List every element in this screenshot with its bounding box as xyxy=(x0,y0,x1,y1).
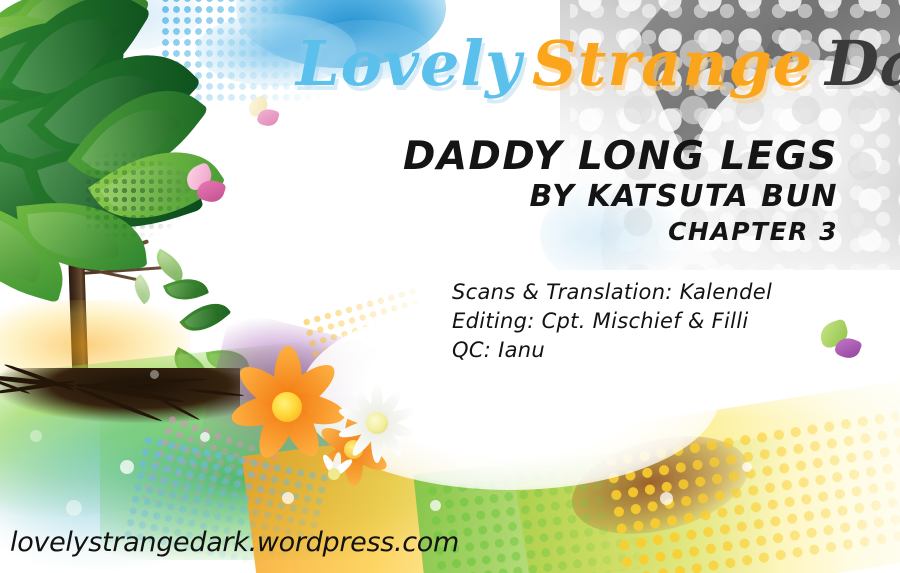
floating-leaf xyxy=(163,271,209,308)
tree-root xyxy=(0,375,31,395)
tree-root xyxy=(0,374,74,389)
highlight-bubble xyxy=(30,430,42,442)
tree-leaf xyxy=(0,67,105,190)
floating-leaf xyxy=(179,293,231,342)
chapter-number: CHAPTER 3 xyxy=(318,218,838,246)
color-splash-yellow-ribbon xyxy=(509,375,900,573)
credit-line-scans-translation: Scans & Translation: Kalendel xyxy=(452,278,772,307)
tree-leaf xyxy=(21,113,204,258)
tree-root xyxy=(76,377,206,388)
blue-cloud-shape xyxy=(60,0,200,50)
manga-author: BY KATSUTA BUN xyxy=(318,180,838,214)
tree-branch xyxy=(77,239,148,265)
manga-title: DADDY LONG LEGS xyxy=(318,136,838,177)
highlight-bubble xyxy=(742,462,752,472)
color-splash-brown xyxy=(562,420,758,551)
daisy-center xyxy=(328,468,340,480)
site-url: lovelystrangedark.wordpress.com xyxy=(10,526,459,560)
color-splash-green-ribbon xyxy=(413,430,846,573)
tree-branch xyxy=(77,198,154,255)
highlight-bubble xyxy=(200,432,210,442)
white-daisy-bud xyxy=(312,452,356,496)
tree-leaf xyxy=(0,37,106,148)
tree-leaf xyxy=(1,0,114,76)
highlight-bubble xyxy=(120,460,134,474)
tree-halftone-texture xyxy=(84,150,194,240)
highlight-bubble xyxy=(660,492,673,505)
tree-leaf xyxy=(0,0,71,104)
title-block: DADDY LONG LEGS BY KATSUTA BUN CHAPTER 3 xyxy=(318,136,838,246)
logo-word-strange: Strange xyxy=(532,22,813,106)
tree-branch xyxy=(8,270,48,278)
floating-leaf xyxy=(150,249,189,283)
credit-line-qc: QC: Ianu xyxy=(452,336,772,365)
tree-leaf xyxy=(0,146,96,244)
credits-block: Scans & Translation: Kalendel Editing: C… xyxy=(452,278,772,365)
flower-center xyxy=(272,392,302,422)
logo-word-dark: Dark xyxy=(825,22,900,106)
green-halftone-dots xyxy=(424,456,666,573)
butterfly-green-purple xyxy=(818,322,862,362)
chapter-credits-page: LovelyStrangeDark DADDY LONG LEGS BY KAT… xyxy=(0,0,900,573)
yellow-halftone-dots xyxy=(601,407,900,573)
tree-leaf xyxy=(0,199,78,303)
floating-leaf xyxy=(128,274,157,304)
tree-root-mass xyxy=(0,368,240,424)
floating-leaf xyxy=(166,347,217,391)
tree-root xyxy=(149,392,200,421)
tree-root xyxy=(0,380,74,395)
tree-leaf xyxy=(0,0,151,136)
tree-root xyxy=(76,382,185,404)
tree-leaf xyxy=(0,51,166,214)
tree-root xyxy=(4,363,75,392)
site-logo: LovelyStrangeDark xyxy=(296,22,856,106)
highlight-bubble xyxy=(430,500,441,511)
butterfly-pale xyxy=(248,98,282,130)
tree-root xyxy=(75,386,162,423)
tree-leaf xyxy=(0,0,126,150)
butterfly-pink xyxy=(186,166,230,206)
highlight-bubble xyxy=(150,370,159,379)
tree-branch xyxy=(80,266,162,275)
tree-leaf xyxy=(60,0,150,88)
tree-leaf xyxy=(0,0,86,84)
highlight-bubble xyxy=(282,492,294,504)
daisy-center xyxy=(366,412,388,434)
tree-leaf xyxy=(16,193,147,280)
logo-word-lovely: Lovely xyxy=(296,22,522,106)
color-splash-orange xyxy=(0,300,190,390)
tree-branch xyxy=(4,246,44,263)
tree-leaf xyxy=(27,16,202,192)
white-daisy-flower xyxy=(338,384,416,462)
tree-branch xyxy=(80,266,137,281)
tree-branch xyxy=(77,196,116,252)
tree-trunk xyxy=(67,228,89,388)
credit-line-editing: Editing: Cpt. Mischief & Filli xyxy=(452,307,772,336)
highlight-bubble xyxy=(66,500,82,516)
